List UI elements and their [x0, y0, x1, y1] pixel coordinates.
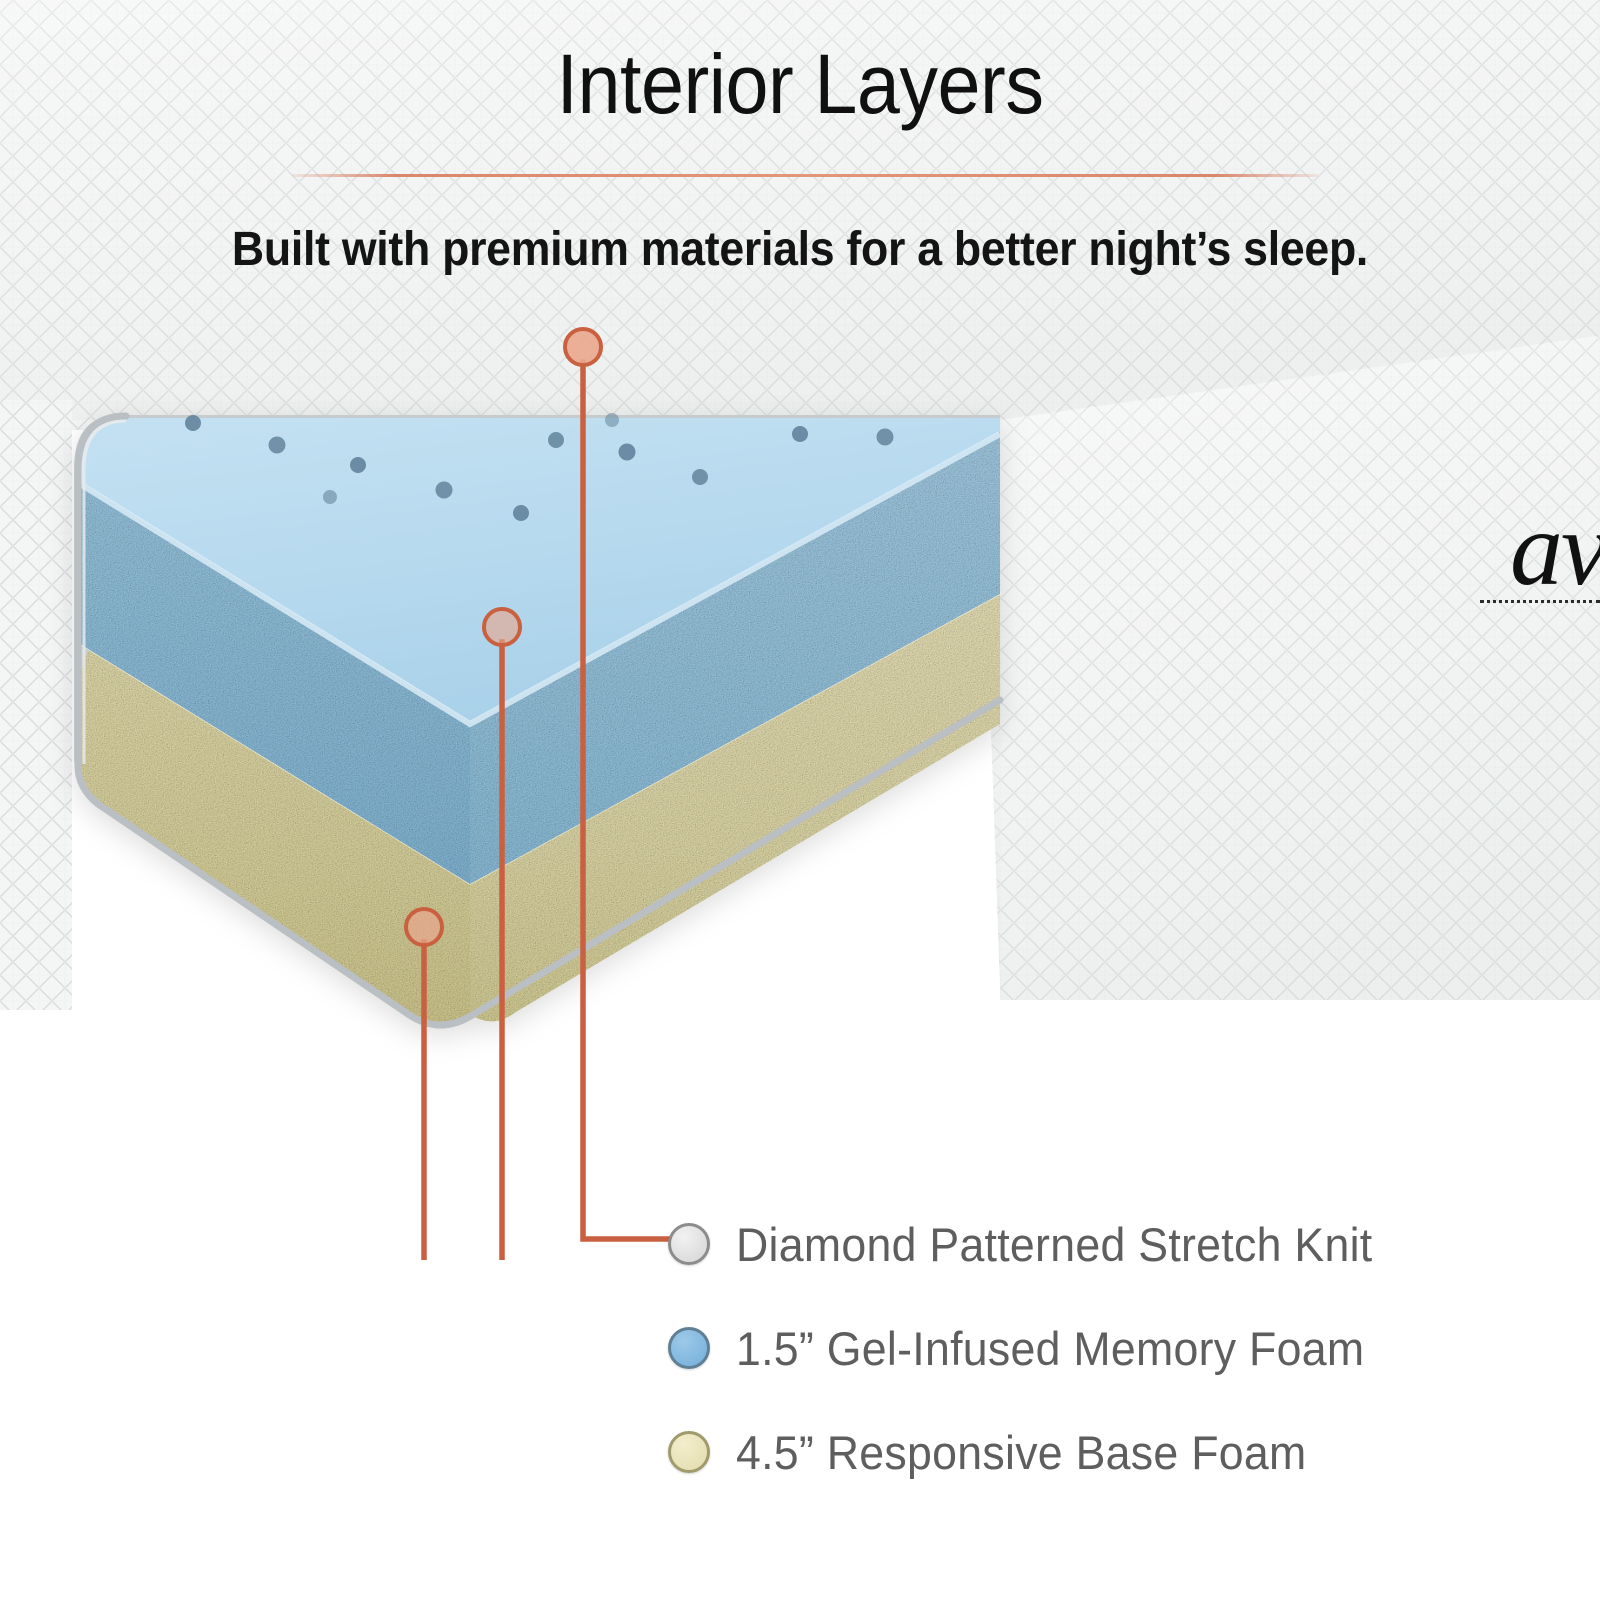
layer-legend: Diamond Patterned Stretch Knit 1.5” Gel-…	[668, 1192, 1568, 1504]
page-subtitle: Built with premium materials for a bette…	[56, 222, 1544, 277]
legend-label-memory-foam: 1.5” Gel-Infused Memory Foam	[736, 1321, 1364, 1376]
infographic-canvas: Interior Layers Built with premium mater…	[0, 0, 1600, 1600]
legend-item-memory-foam[interactable]: 1.5” Gel-Infused Memory Foam	[668, 1296, 1568, 1400]
brand-wordmark: av	[1510, 496, 1600, 602]
mattress-cutaway-wedge	[74, 413, 1000, 1025]
legend-bullet-base-foam	[668, 1431, 710, 1473]
callout-dot-memory-foam	[484, 609, 520, 645]
legend-item-base-foam[interactable]: 4.5” Responsive Base Foam	[668, 1400, 1568, 1504]
title-divider-rule	[292, 174, 1318, 177]
header: Interior Layers Built with premium mater…	[0, 0, 1600, 330]
legend-item-stretch-knit[interactable]: Diamond Patterned Stretch Knit	[668, 1192, 1568, 1296]
legend-bullet-memory-foam	[668, 1327, 710, 1369]
callout-dot-stretch-knit	[565, 329, 601, 365]
legend-bullet-stretch-knit	[668, 1223, 710, 1265]
callout-dot-base-foam	[406, 909, 442, 945]
legend-label-base-foam: 4.5” Responsive Base Foam	[736, 1425, 1306, 1480]
brand-underline-dots	[1480, 600, 1600, 603]
page-title: Interior Layers	[64, 40, 1536, 128]
legend-label-stretch-knit: Diamond Patterned Stretch Knit	[736, 1217, 1372, 1272]
